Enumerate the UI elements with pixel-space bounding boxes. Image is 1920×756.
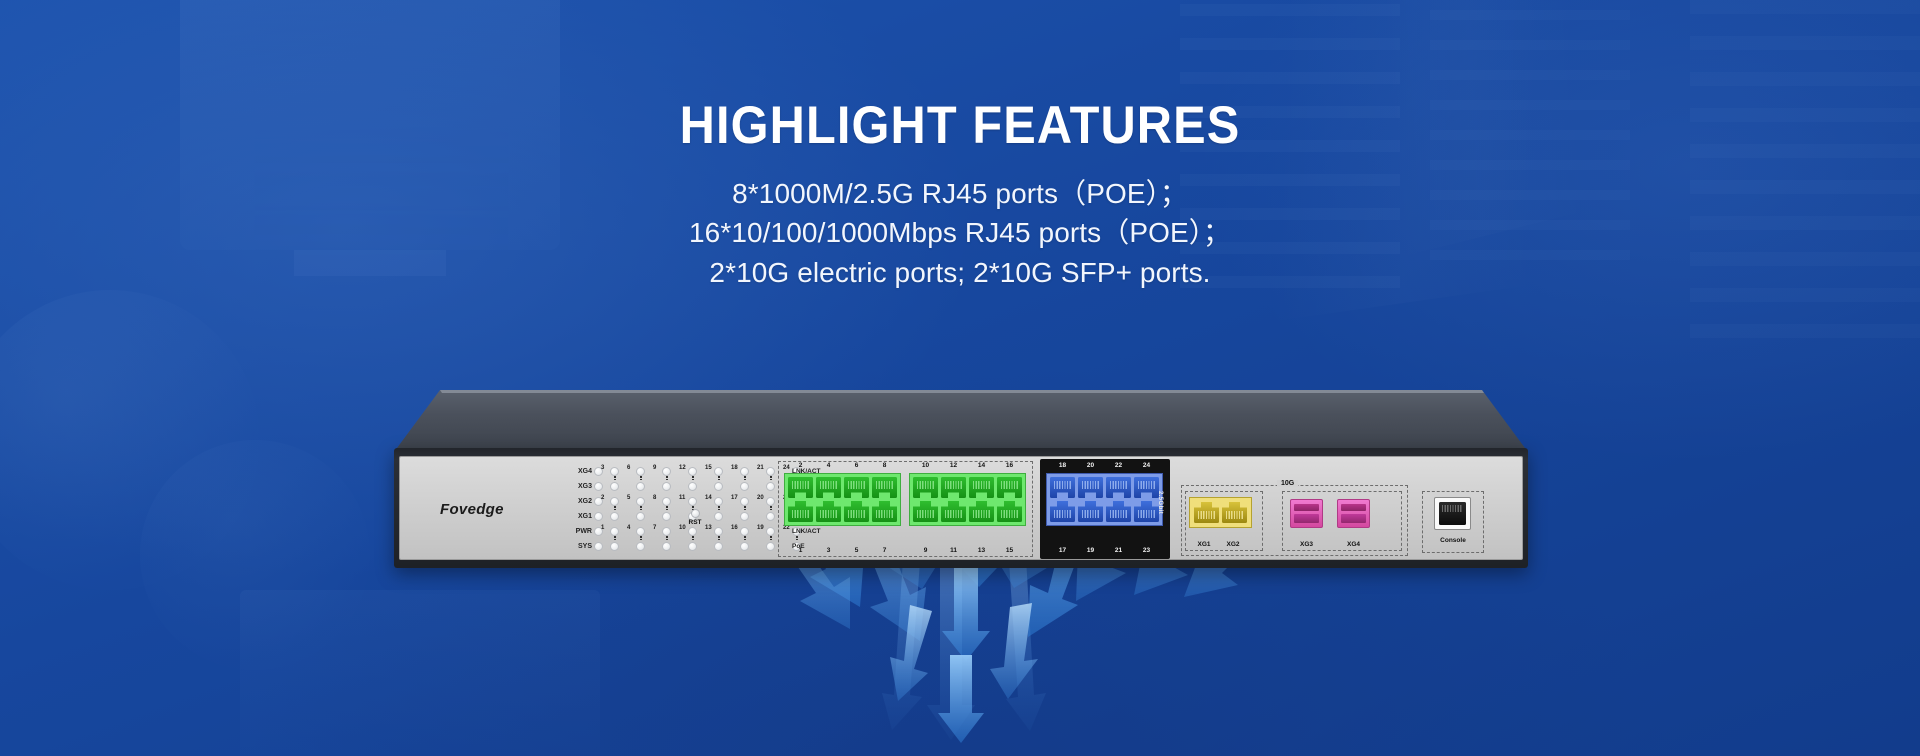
led-port-number-11: 11 — [679, 495, 685, 501]
port-4[interactable] — [816, 477, 841, 498]
green-b-bottom-row[interactable] — [913, 501, 1022, 522]
port-number-12: 12 — [941, 462, 966, 469]
green-a-bottom-row[interactable] — [788, 501, 897, 522]
port-led-r5-c7 — [766, 527, 775, 536]
port-5[interactable] — [844, 501, 869, 522]
port-led-r2-c3 — [662, 482, 671, 491]
port-led-r2-c1 — [610, 482, 619, 491]
port-7[interactable] — [872, 501, 897, 522]
port-led-r5-c1 — [610, 527, 619, 536]
port-led-r6-c4 — [688, 542, 697, 551]
port-number-18: 18 — [1050, 462, 1075, 469]
port-led-r3-c1 — [610, 497, 619, 506]
port-led-r5-c6 — [740, 527, 749, 536]
uplink-sfp-group[interactable] — [1290, 499, 1370, 528]
port-9[interactable] — [913, 501, 938, 522]
led-port-number-14: 14 — [705, 495, 712, 501]
port-led-r4-c1 — [610, 512, 619, 521]
led-port-number-2: 2 — [601, 495, 604, 501]
uplink-10g-label: 10G — [1277, 480, 1298, 487]
port-led-r1-c6 — [740, 467, 749, 476]
port-led-r1-c3 — [662, 467, 671, 476]
port-12[interactable] — [941, 477, 966, 498]
port-number-10: 10 — [913, 462, 938, 469]
status-led-xg3 — [594, 482, 603, 491]
port-led-r6-c5 — [714, 542, 723, 551]
port-led-r1-c5 — [714, 467, 723, 476]
port-number-11: 11 — [941, 547, 966, 554]
port-20[interactable] — [1078, 477, 1103, 498]
port-xg3[interactable] — [1290, 499, 1323, 528]
port-14[interactable] — [969, 477, 994, 498]
led-port-number-20: 20 — [757, 495, 764, 501]
label-xg1: XG1 — [1190, 541, 1218, 548]
label-console: Console — [1427, 537, 1479, 544]
led-port-number-3: 3 — [601, 465, 604, 471]
led-left-label-xg2: XG2 — [566, 495, 592, 508]
label-xg2: XG2 — [1219, 541, 1247, 548]
led-left-label-xg3: XG3 — [566, 480, 592, 493]
port-number-24: 24 — [1134, 462, 1159, 469]
port-number-23: 23 — [1134, 547, 1159, 554]
port-number-8: 8 — [872, 462, 897, 469]
label-xg3: XG3 — [1290, 541, 1323, 548]
blue-bottom-row[interactable] — [1050, 501, 1159, 522]
port-led-r3-c4 — [688, 497, 697, 506]
port-led-r2-c5 — [714, 482, 723, 491]
led-port-number-12: 12 — [679, 465, 686, 471]
port-number-9: 9 — [913, 547, 938, 554]
port-2[interactable] — [788, 477, 813, 498]
led-port-number-7: 7 — [653, 525, 656, 531]
port-led-r3-c2 — [636, 497, 645, 506]
network-switch-device: Fovedge XG43691215182124LNK/ACTXG3PoEXG2… — [394, 390, 1528, 568]
green-b-top-row[interactable] — [913, 477, 1022, 498]
led-port-number-5: 5 — [627, 495, 630, 501]
port-led-r2-c4 — [688, 482, 697, 491]
led-port-number-16: 16 — [731, 525, 738, 531]
port-number-4: 4 — [816, 462, 841, 469]
port-led-r5-c3 — [662, 527, 671, 536]
led-port-number-6: 6 — [627, 465, 630, 471]
console-port[interactable] — [1434, 497, 1471, 530]
port-number-22: 22 — [1106, 462, 1131, 469]
led-left-label-xg4: XG4 — [566, 465, 592, 478]
led-port-number-18: 18 — [731, 465, 738, 471]
port-number-17: 17 — [1050, 547, 1075, 554]
brand-logo: Fovedge — [440, 501, 504, 518]
port-led-r2-c2 — [636, 482, 645, 491]
led-port-number-13: 13 — [705, 525, 712, 531]
port-led-r4-c6 — [740, 512, 749, 521]
led-left-label-pwr: PWR — [566, 525, 592, 538]
uplink-rj45-group[interactable] — [1189, 497, 1252, 528]
port-24[interactable] — [1134, 477, 1159, 498]
subtitle-line-3: 2*10G electric ports; 2*10G SFP+ ports. — [0, 253, 1920, 292]
port-led-r6-c3 — [662, 542, 671, 551]
port-led-r5-c4 — [688, 527, 697, 536]
port-6[interactable] — [844, 477, 869, 498]
port-16[interactable] — [997, 477, 1022, 498]
port-13[interactable] — [969, 501, 994, 522]
reset-button-dot[interactable] — [691, 509, 700, 518]
blue-top-row[interactable] — [1050, 477, 1159, 498]
faceplate: Fovedge XG43691215182124LNK/ACTXG3PoEXG2… — [399, 456, 1523, 560]
port-led-r6-c7 — [766, 542, 775, 551]
port-led-r3-c6 — [740, 497, 749, 506]
port-led-r2-c6 — [740, 482, 749, 491]
port-number-5: 5 — [844, 547, 869, 554]
port-led-r4-c7 — [766, 512, 775, 521]
blue-group-jacks[interactable] — [1046, 473, 1163, 526]
port-18[interactable] — [1050, 477, 1075, 498]
port-number-13: 13 — [969, 547, 994, 554]
port-number-2: 2 — [788, 462, 813, 469]
port-led-r6-c1 — [610, 542, 619, 551]
subtitle-block: 8*1000M/2.5G RJ45 ports（POE）； 16*10/100/… — [0, 174, 1920, 292]
chassis-top-lid — [394, 390, 1528, 452]
blue-speed-label: 2.5Gbit — [1157, 491, 1163, 514]
ghost-panel-image — [240, 590, 600, 756]
port-15[interactable] — [997, 501, 1022, 522]
port-number-19: 19 — [1078, 547, 1103, 554]
led-left-label-xg1: XG1 — [566, 510, 592, 523]
subtitle-line-2: 16*10/100/1000Mbps RJ45 ports（POE）； — [0, 213, 1920, 252]
port-led-r4-c3 — [662, 512, 671, 521]
port-number-6: 6 — [844, 462, 869, 469]
led-port-number-15: 15 — [705, 465, 712, 471]
port-led-r2-c7 — [766, 482, 775, 491]
page-title: HIGHLIGHT FEATURES — [77, 98, 1843, 154]
status-led-sys — [594, 542, 603, 551]
port-led-r6-c2 — [636, 542, 645, 551]
port-led-r5-c2 — [636, 527, 645, 536]
port-17[interactable] — [1050, 501, 1075, 522]
port-led-r3-c5 — [714, 497, 723, 506]
led-port-number-9: 9 — [653, 465, 656, 471]
port-led-r1-c7 — [766, 467, 775, 476]
port-xg1[interactable] — [1194, 502, 1219, 523]
port-number-7: 7 — [872, 547, 897, 554]
subtitle-line-1: 8*1000M/2.5G RJ45 ports（POE）； — [0, 174, 1920, 213]
port-xg4[interactable] — [1337, 499, 1370, 528]
port-led-r3-c7 — [766, 497, 775, 506]
reset-button-label: RST — [684, 519, 706, 526]
port-led-r4-c5 — [714, 512, 723, 521]
port-number-15: 15 — [997, 547, 1022, 554]
port-led-r1-c2 — [636, 467, 645, 476]
port-22[interactable] — [1106, 477, 1131, 498]
led-port-number-21: 21 — [757, 465, 764, 471]
port-led-r1-c1 — [610, 467, 619, 476]
port-led-r6-c6 — [740, 542, 749, 551]
port-xg2[interactable] — [1222, 502, 1247, 523]
console-port-wrap[interactable] — [1434, 497, 1471, 530]
led-port-number-8: 8 — [653, 495, 656, 501]
port-led-r3-c3 — [662, 497, 671, 506]
port-21[interactable] — [1106, 501, 1131, 522]
led-port-number-19: 19 — [757, 525, 764, 531]
port-number-3: 3 — [816, 547, 841, 554]
green-group-b-jacks[interactable] — [909, 473, 1026, 526]
led-left-label-sys: SYS — [566, 540, 592, 553]
port-23[interactable] — [1134, 501, 1159, 522]
port-11[interactable] — [941, 501, 966, 522]
port-3[interactable] — [816, 501, 841, 522]
port-number-20: 20 — [1078, 462, 1103, 469]
port-19[interactable] — [1078, 501, 1103, 522]
port-10[interactable] — [913, 477, 938, 498]
port-led-r5-c5 — [714, 527, 723, 536]
led-port-number-4: 4 — [627, 525, 630, 531]
green-group-a-jacks[interactable] — [784, 473, 901, 526]
status-led-xg1 — [594, 512, 603, 521]
port-led-r1-c4 — [688, 467, 697, 476]
label-xg4: XG4 — [1337, 541, 1370, 548]
port-1[interactable] — [788, 501, 813, 522]
uplink-rj45-jacks[interactable] — [1189, 497, 1252, 528]
port-led-r4-c2 — [636, 512, 645, 521]
heading-block: HIGHLIGHT FEATURES 8*1000M/2.5G RJ45 por… — [0, 98, 1920, 292]
port-number-14: 14 — [969, 462, 994, 469]
led-port-number-17: 17 — [731, 495, 738, 501]
led-port-number-1: 1 — [601, 525, 604, 531]
port-8[interactable] — [872, 477, 897, 498]
green-a-top-row[interactable] — [788, 477, 897, 498]
port-number-1: 1 — [788, 547, 813, 554]
port-number-21: 21 — [1106, 547, 1131, 554]
port-number-16: 16 — [997, 462, 1022, 469]
reset-button[interactable]: RST — [684, 509, 706, 526]
console-port-inner — [1439, 502, 1466, 525]
